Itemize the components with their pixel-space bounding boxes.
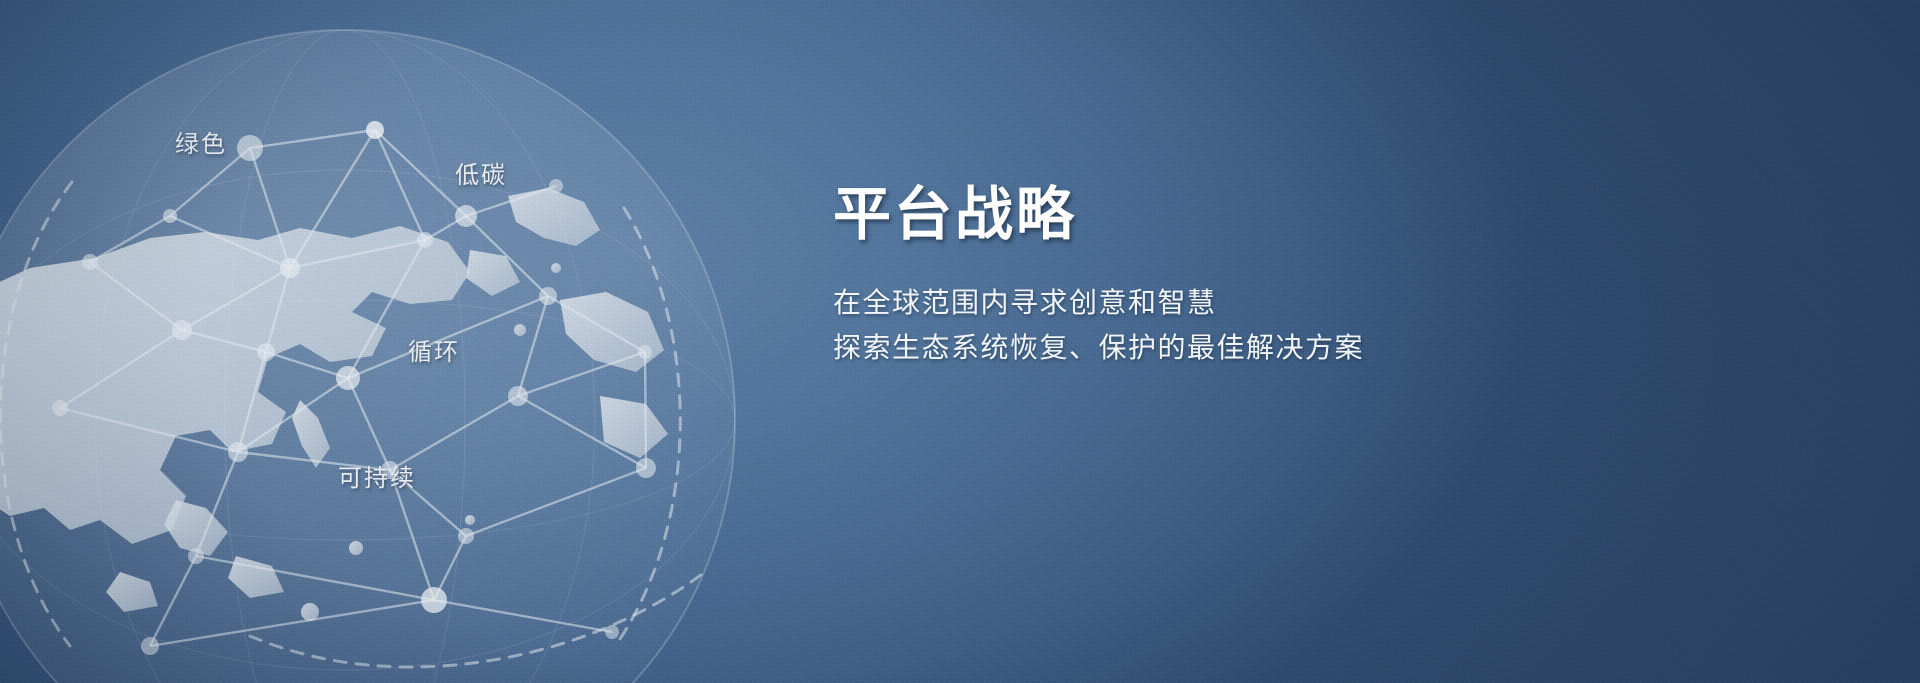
- hero-subtitle-line-1: 在全球范围内寻求创意和智慧: [833, 280, 1733, 325]
- globe-label-green: 绿色: [175, 124, 227, 159]
- page-title: 平台战略: [833, 186, 1733, 244]
- hero-text-block: 平台战略 在全球范围内寻求创意和智慧 探索生态系统恢复、保护的最佳解决方案: [833, 186, 1733, 371]
- globe-label-circular: 循环: [408, 332, 460, 367]
- hero-banner: 绿色 低碳 循环 可持续 平台战略 在全球范围内寻求创意和智慧 探索生态系统恢复…: [0, 0, 1920, 683]
- globe-label-low-carbon: 低碳: [455, 155, 507, 190]
- globe-label-sustainable: 可持续: [338, 458, 416, 493]
- globe-network-graphic: 绿色 低碳 循环 可持续: [0, 0, 900, 683]
- hero-subtitle-line-2: 探索生态系统恢复、保护的最佳解决方案: [833, 325, 1733, 370]
